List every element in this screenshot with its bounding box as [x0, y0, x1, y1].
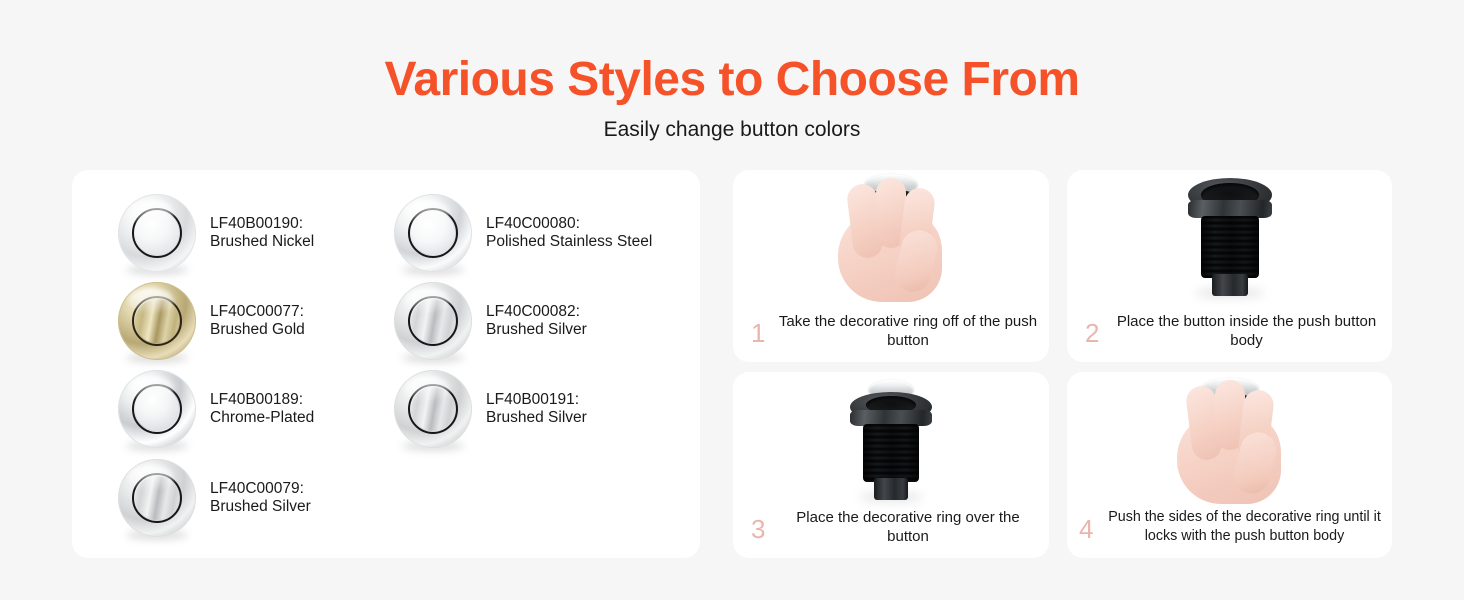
hand-icon — [832, 176, 950, 304]
style-option-finish: Brushed Gold — [210, 321, 305, 339]
step-card-2: 2 Place the button inside the push butto… — [1067, 170, 1392, 362]
hand-locking-decorative-ring-image — [1067, 372, 1392, 504]
step-caption: 1 Take the decorative ring off of the pu… — [733, 302, 1049, 362]
push-button-body-image — [1067, 170, 1392, 302]
promo-banner: Various Styles to Choose From Easily cha… — [0, 0, 1464, 600]
step-number: 1 — [751, 320, 765, 346]
step-caption: 3 Place the decorative ring over the but… — [733, 498, 1049, 558]
hand-holding-push-button-image — [733, 170, 1049, 302]
style-option-code: LF40C00077: — [210, 303, 305, 321]
step-caption: 4 Push the sides of the decorative ring … — [1067, 498, 1392, 558]
step-text: Place the decorative ring over the butto… — [777, 508, 1039, 546]
push-button-disc-icon — [118, 459, 196, 537]
step-text: Place the button inside the push button … — [1111, 312, 1382, 350]
style-option-lf40b00191[interactable]: LF40B00191: Brushed Silver — [394, 370, 587, 448]
push-button-disc-icon — [118, 370, 196, 448]
step-card-3: 3 Place the decorative ring over the but… — [733, 372, 1049, 558]
style-option-lf40c00080[interactable]: LF40C00080: Polished Stainless Steel — [394, 194, 652, 272]
style-option-code: LF40C00080: — [486, 215, 652, 233]
push-button-disc-icon — [394, 282, 472, 360]
style-option-label: LF40B00189: Chrome-Plated — [210, 391, 314, 427]
style-option-lf40c00077[interactable]: LF40C00077: Brushed Gold — [118, 282, 305, 360]
push-button-disc-icon — [394, 194, 472, 272]
style-option-label: LF40B00191: Brushed Silver — [486, 391, 587, 427]
header: Various Styles to Choose From Easily cha… — [0, 0, 1464, 144]
style-option-code: LF40C00079: — [210, 480, 311, 498]
style-option-code: LF40B00190: — [210, 215, 314, 233]
push-button-disc-icon — [394, 370, 472, 448]
push-button-disc-icon — [118, 194, 196, 272]
step-card-4: 4 Push the sides of the decorative ring … — [1067, 372, 1392, 558]
styles-panel: LF40B00190: Brushed Nickel LF40C00077: B… — [72, 170, 700, 558]
step-text: Take the decorative ring off of the push… — [777, 312, 1039, 350]
style-option-label: LF40C00082: Brushed Silver — [486, 303, 587, 339]
step-text: Push the sides of the decorative ring un… — [1103, 508, 1386, 546]
style-option-label: LF40C00080: Polished Stainless Steel — [486, 215, 652, 251]
style-option-finish: Brushed Silver — [210, 498, 311, 516]
page-title: Various Styles to Choose From — [0, 0, 1464, 108]
style-option-lf40b00189[interactable]: LF40B00189: Chrome-Plated — [118, 370, 314, 448]
style-option-lf40c00082[interactable]: LF40C00082: Brushed Silver — [394, 282, 587, 360]
step-number: 4 — [1079, 516, 1093, 542]
page-subtitle: Easily change button colors — [0, 108, 1464, 144]
step-card-1: 1 Take the decorative ring off of the pu… — [733, 170, 1049, 362]
style-option-finish: Chrome-Plated — [210, 409, 314, 427]
style-option-code: LF40B00189: — [210, 391, 314, 409]
style-option-finish: Polished Stainless Steel — [486, 233, 652, 251]
step-number: 3 — [751, 516, 765, 542]
assembled-push-button-image — [733, 372, 1049, 504]
hand-icon — [1171, 378, 1289, 506]
style-option-lf40c00079[interactable]: LF40C00079: Brushed Silver — [118, 459, 311, 537]
style-option-label: LF40C00077: Brushed Gold — [210, 303, 305, 339]
style-option-label: LF40C00079: Brushed Silver — [210, 480, 311, 516]
style-option-finish: Brushed Silver — [486, 321, 587, 339]
step-caption: 2 Place the button inside the push butto… — [1067, 302, 1392, 362]
push-button-disc-icon — [118, 282, 196, 360]
style-option-finish: Brushed Nickel — [210, 233, 314, 251]
style-option-code: LF40B00191: — [486, 391, 587, 409]
style-option-code: LF40C00082: — [486, 303, 587, 321]
style-option-finish: Brushed Silver — [486, 409, 587, 427]
style-option-lf40b00190[interactable]: LF40B00190: Brushed Nickel — [118, 194, 314, 272]
step-number: 2 — [1085, 320, 1099, 346]
style-option-label: LF40B00190: Brushed Nickel — [210, 215, 314, 251]
